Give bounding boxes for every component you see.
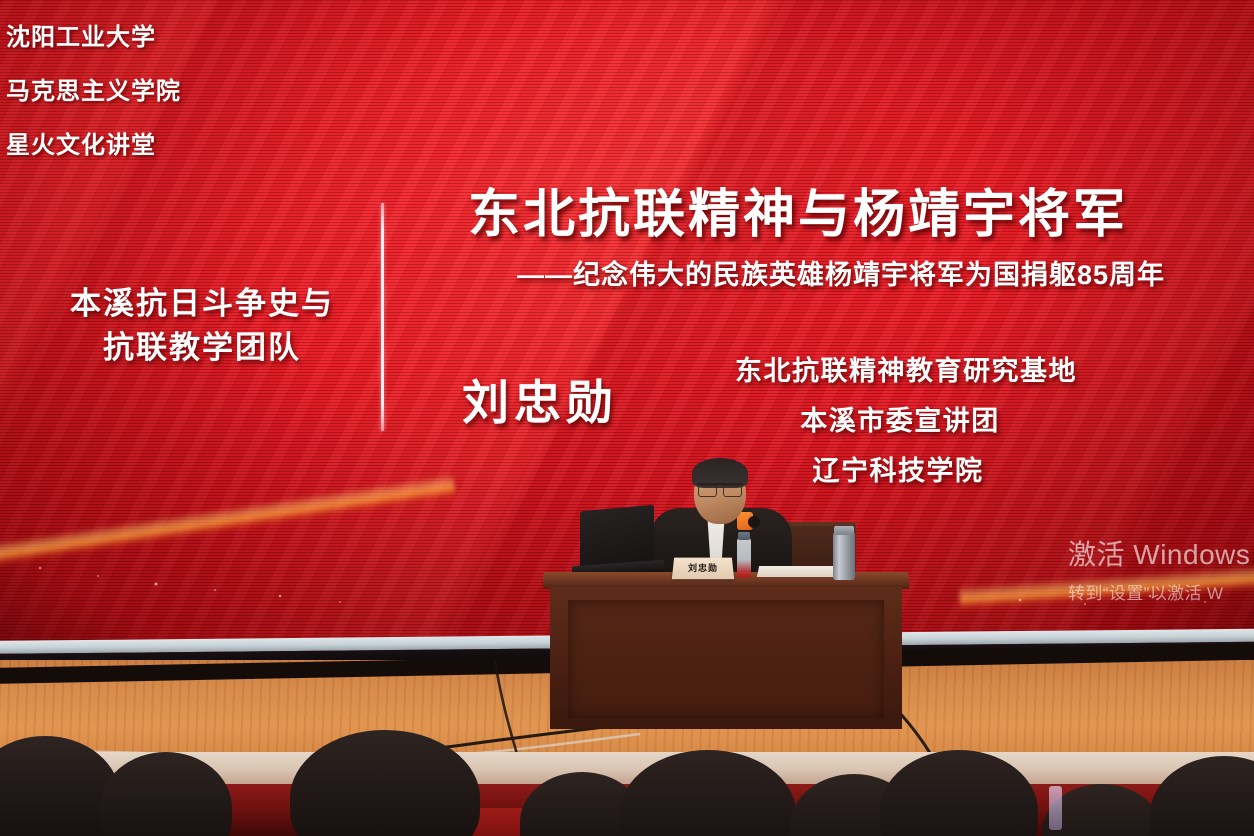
gold-sparkle-ribbon-left [0,473,456,576]
affiliation-line-3: 辽宁科技学院 [706,458,1106,485]
speaker-affiliation-block: 东北抗联精神教育研究基地 本溪市委宣讲团 辽宁科技学院 [706,358,1106,508]
affiliation-line-2: 本溪市委宣讲团 [706,408,1106,435]
teaching-team-block: 本溪抗日斗争史与 抗联教学团队 [42,282,362,370]
vertical-divider [381,203,384,431]
organization-block: 沈阳工业大学 马克思主义学院 星火文化讲堂 [6,26,336,188]
slide-title-main: 东北抗联精神与杨靖宇将军 [468,172,1128,247]
lecture-hall-photo: 沈阳工业大学 马克思主义学院 星火文化讲堂 本溪抗日斗争史与 抗联教学团队 东北… [0,0,1254,836]
gold-sparkle-ribbon-right [959,562,1254,612]
speaker-name: 刘忠勋 [462,364,618,433]
organization-line-university: 沈阳工业大学 [6,26,336,50]
affiliation-line-1: 东北抗联精神教育研究基地 [706,358,1106,385]
teaching-team-line-1: 本溪抗日斗争史与 [42,282,362,326]
teaching-team-line-2: 抗联教学团队 [42,326,362,370]
slide-title-subtitle: ——纪念伟大的民族英雄杨靖宇将军为国捐躯85周年 [517,253,1165,292]
organization-line-series: 星火文化讲堂 [6,134,336,158]
organization-line-school: 马克思主义学院 [6,80,336,104]
stage-apron [0,784,1254,836]
